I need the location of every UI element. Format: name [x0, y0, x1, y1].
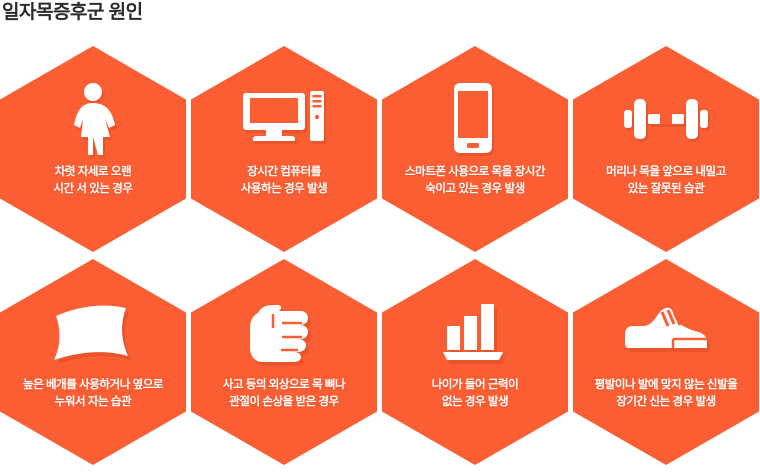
hexagon-cell-computer-use[interactable]: 장시간 컴퓨터를 사용하는 경우 발생 [191, 46, 377, 252]
page-title: 일자목증후군 원인 [2, 2, 143, 25]
hexagon-cell-smartphone-use[interactable]: 스마트폰 사용으로 목을 장시간 숙이고 있는 경우 발생 [382, 46, 568, 252]
hexagon-label: 스마트폰 사용으로 목을 장시간 숙이고 있는 경우 발생 [387, 164, 563, 198]
hexagon-cell-standing-posture[interactable]: 차렷 자세로 오랜 시간 서 있는 경우 [0, 46, 186, 252]
hexagon-content: 높은 베개를 사용하거나 옆으로 누워서 자는 습관 [0, 259, 186, 465]
hexagon-content: 평발이나 발에 맞지 않는 신발을 장기간 신는 경우 발생 [573, 259, 759, 465]
hexagon-label: 차렷 자세로 오랜 시간 서 있는 경우 [5, 164, 181, 198]
hexagon-cell-pillow-habit[interactable]: 높은 베개를 사용하거나 옆으로 누워서 자는 습관 [0, 259, 186, 465]
hexagon-row: 차렷 자세로 오랜 시간 서 있는 경우 [0, 46, 760, 252]
pillow-icon [50, 295, 136, 371]
smartphone-icon [432, 82, 518, 158]
hexagon-label: 평발이나 발에 맞지 않는 신발을 장기간 신는 경우 발생 [578, 377, 754, 411]
hexagon-content: 머리나 목을 앞으로 내밀고 있는 잘못된 습관 [573, 46, 759, 252]
hexagon-label: 나이가 들어 근력이 없는 경우 발생 [387, 377, 563, 411]
hexagon-cell-trauma-injury[interactable]: 사고 등의 외상으로 목 뼈나 관절이 손상을 받은 경우 [191, 259, 377, 465]
hexagon-content: 스마트폰 사용으로 목을 장시간 숙이고 있는 경우 발생 [382, 46, 568, 252]
fist-icon [241, 295, 327, 371]
standing-woman-icon [50, 82, 136, 158]
dumbbell-icon [623, 82, 709, 158]
hexagon-content: 사고 등의 외상으로 목 뼈나 관절이 손상을 받은 경우 [191, 259, 377, 465]
hexagon-label: 높은 베개를 사용하거나 옆으로 누워서 자는 습관 [5, 377, 181, 411]
hexagon-label: 사고 등의 외상으로 목 뼈나 관절이 손상을 받은 경우 [196, 377, 372, 411]
bar-chart-icon [432, 295, 518, 371]
hexagon-content: 장시간 컴퓨터를 사용하는 경우 발생 [191, 46, 377, 252]
hexagon-label: 머리나 목을 앞으로 내밀고 있는 잘못된 습관 [578, 164, 754, 198]
hexagon-content: 차렷 자세로 오랜 시간 서 있는 경우 [0, 46, 186, 252]
hexagon-grid: 차렷 자세로 오랜 시간 서 있는 경우 [0, 46, 760, 474]
hexagon-row: 높은 베개를 사용하거나 옆으로 누워서 자는 습관 [0, 259, 760, 465]
desktop-computer-icon [241, 82, 327, 158]
hexagon-cell-footwear[interactable]: 평발이나 발에 맞지 않는 신발을 장기간 신는 경우 발생 [573, 259, 759, 465]
hexagon-label: 장시간 컴퓨터를 사용하는 경우 발생 [196, 164, 372, 198]
hexagon-cell-muscle-weakness[interactable]: 나이가 들어 근력이 없는 경우 발생 [382, 259, 568, 465]
shoe-icon [623, 295, 709, 371]
hexagon-content: 나이가 들어 근력이 없는 경우 발생 [382, 259, 568, 465]
hexagon-cell-forward-head-habit[interactable]: 머리나 목을 앞으로 내밀고 있는 잘못된 습관 [573, 46, 759, 252]
